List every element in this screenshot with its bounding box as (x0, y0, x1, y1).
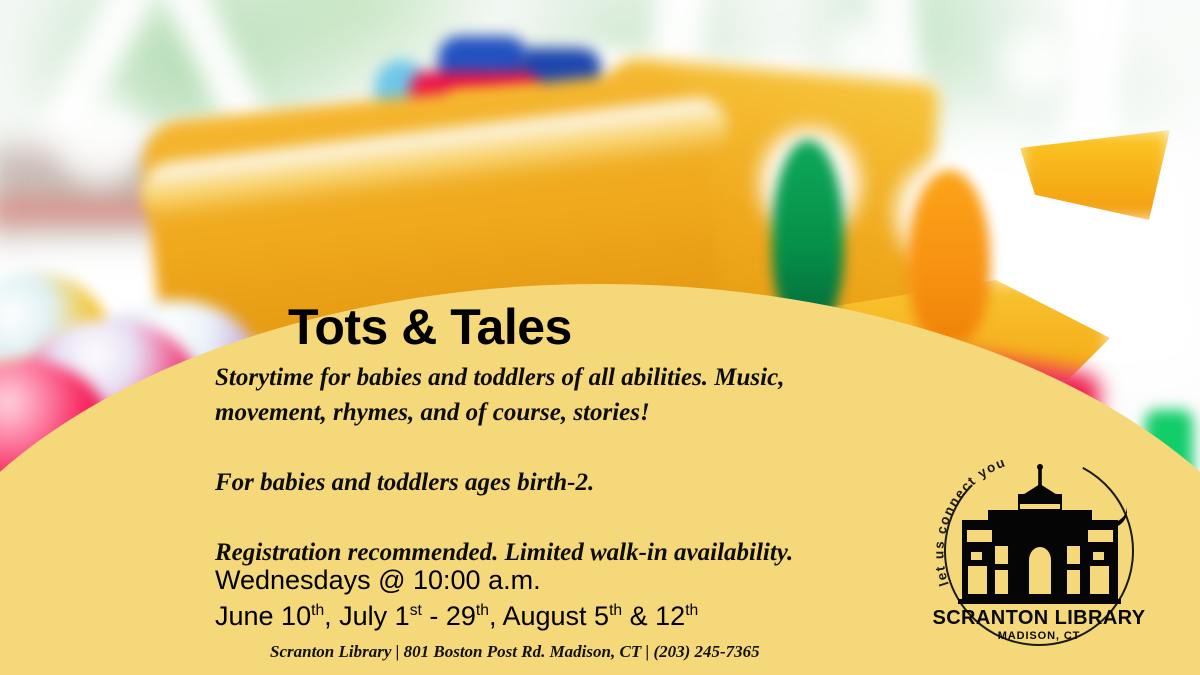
spacer (215, 500, 895, 535)
schedule-dates: June 10th, July 1st - 29th, August 5th &… (215, 598, 698, 634)
description-line-1: Storytime for babies and toddlers of all… (215, 360, 895, 395)
scranton-library-logo: let us connect you (930, 442, 1148, 660)
schedule-time: Wednesdays @ 10:00 a.m. (215, 562, 698, 598)
audience-line: For babies and toddlers ages birth-2. (215, 465, 895, 500)
ordinal-suffix: st (410, 602, 422, 619)
schedule-block: Wednesdays @ 10:00 a.m. June 10th, July … (215, 562, 698, 634)
ordinal-suffix: th (685, 602, 698, 619)
logo-location: MADISON, CT (998, 630, 1081, 642)
page-title: Tots & Tales (288, 302, 572, 352)
event-flyer: Tots & Tales Storytime for babies and to… (0, 0, 1200, 675)
ordinal-suffix: th (476, 602, 489, 619)
description-line-2: movement, rhymes, and of course, stories… (215, 395, 895, 430)
logo-name: SCRANTON LIBRARY (932, 607, 1145, 629)
description-block: Storytime for babies and toddlers of all… (215, 360, 895, 570)
contact-footer: Scranton Library | 801 Boston Post Rd. M… (270, 642, 760, 662)
spacer (215, 430, 895, 465)
ordinal-suffix: th (609, 602, 622, 619)
ordinal-suffix: th (311, 602, 324, 619)
